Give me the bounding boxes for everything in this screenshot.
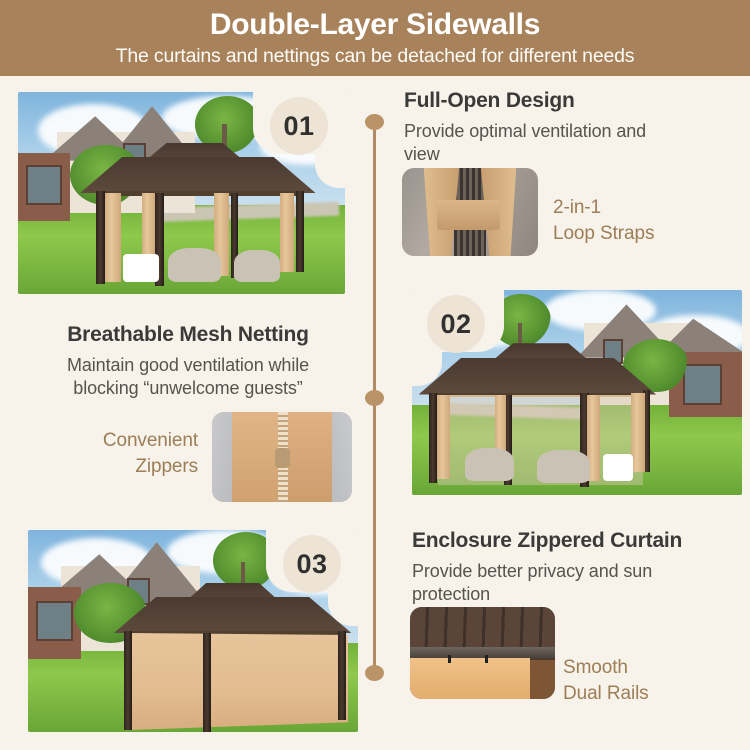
page-subtitle: The curtains and nettings can be detache… [116,46,635,67]
rail-photo-floor [526,660,555,699]
section-heading-3: Enclosure Zippered Curtain [412,528,750,554]
timeline-dot-1 [365,114,384,130]
loop-straps-label-line1: 2-in-1 [553,195,654,221]
timeline-dot-3 [365,665,384,681]
section-heading-1: Full-Open Design [404,88,744,114]
patio-furniture [537,450,590,483]
full-open-design-block: Full-Open Design Provide optimal ventila… [404,88,744,166]
zipper-closeup-photo [212,412,352,502]
loop-strap-closeup-photo [402,168,538,256]
zippers-label-line1: Convenient [58,428,198,454]
house-window [36,601,72,641]
section-body-3: Provide better privacy and sun protectio… [412,560,692,606]
badge-number: 03 [296,549,327,580]
gazebo-curtain [437,395,450,479]
section-body-1: Provide optimal ventilation and view [404,120,676,166]
dual-rail-closeup-photo [410,607,555,699]
header-banner: Double-Layer Sidewalls The curtains and … [0,0,750,76]
house-window [26,165,62,205]
rail-photo-curtain [410,658,530,699]
rail-photo-hook [485,655,488,663]
timeline-dot-2 [365,390,384,406]
section-heading-2: Breathable Mesh Netting [18,322,358,348]
planter [123,254,159,282]
section-body-2-line2: blocking “unwelcome guests” [18,377,358,400]
zipper-photo-pull [275,448,290,468]
gazebo-post [124,631,133,730]
infographic-page: Double-Layer Sidewalls The curtains and … [0,0,750,750]
badge-02: 02 [427,295,485,353]
patio-furniture [465,448,515,481]
rail-photo-ceiling [410,607,555,649]
gazebo-curtain [280,193,295,272]
zipper-photo-cloth-right [285,412,333,502]
loop-straps-label-line2: Loop Straps [553,221,654,247]
gazebo-curtain [631,393,644,473]
loop-straps-label: 2-in-1 Loop Straps [553,195,654,246]
rail-photo-hook [448,655,451,663]
badge-03: 03 [283,535,341,593]
badge-number: 02 [440,309,471,340]
gazebo-post [296,191,304,272]
rails-label-line2: Dual Rails [563,681,649,707]
closed-curtain-wall [130,633,348,730]
gazebo-curtain [105,193,121,282]
rail-photo-bar [410,647,555,657]
patio-furniture [168,248,220,282]
page-title: Double-Layer Sidewalls [210,9,540,41]
planter [603,454,633,481]
zippers-label-line2: Zippers [58,454,198,480]
dual-rails-label: Smooth Dual Rails [563,655,649,706]
section-body-2-line1: Maintain good ventilation while [18,354,358,377]
breathable-mesh-netting-block: Breathable Mesh Netting Maintain good ve… [18,322,358,400]
convenient-zippers-label: Convenient Zippers [58,428,198,479]
enclosure-zippered-curtain-block: Enclosure Zippered Curtain Provide bette… [412,528,750,606]
rails-label-line1: Smooth [563,655,649,681]
gazebo-beam [96,191,299,196]
patio-furniture [234,250,280,282]
gazebo-post [203,633,212,732]
badge-01: 01 [270,97,328,155]
gazebo-post [338,631,346,720]
loop-photo-strap [437,200,500,230]
badge-number: 01 [283,111,314,142]
